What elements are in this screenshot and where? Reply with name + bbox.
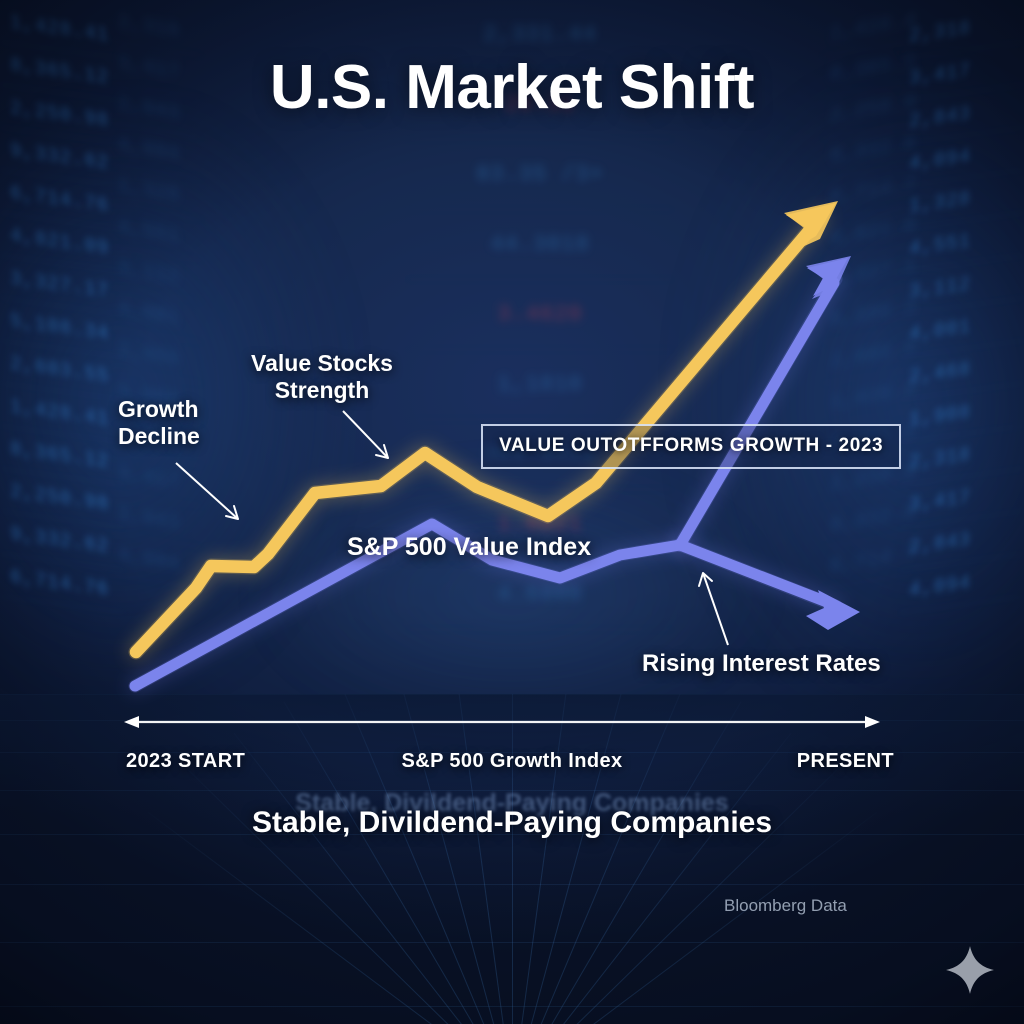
annotation-value-strength-line2: Strength xyxy=(232,377,412,404)
sparkle-icon xyxy=(944,944,996,996)
timeline-axis xyxy=(124,716,880,728)
annotation-rising-interest-rates: Rising Interest Rates xyxy=(642,650,881,678)
data-source-credit: Bloomberg Data xyxy=(724,896,847,916)
series-label-value-index: S&P 500 Value Index xyxy=(347,533,591,562)
growth-decline-leader xyxy=(176,463,238,519)
infographic-canvas: 1,428.418,365.122,250.989,332.626,714.76… xyxy=(0,0,1024,1024)
page-title: U.S. Market Shift xyxy=(0,52,1024,123)
growth-index-line xyxy=(135,256,860,686)
market-shift-chart xyxy=(0,0,1024,1024)
value-strength-leader xyxy=(343,411,388,458)
axis-right-arrowhead xyxy=(865,716,880,728)
annotation-value-stocks-strength: Value Stocks Strength xyxy=(232,350,412,404)
annotation-growth-decline-line2: Decline xyxy=(118,423,268,450)
bottom-caption: Stable, Divildend-Paying Companies xyxy=(0,806,1024,840)
annotation-value-strength-line1: Value Stocks xyxy=(232,350,412,377)
axis-left-arrowhead xyxy=(124,716,139,728)
status-badge: VALUE OUTOTFFORMS GROWTH - 2023 xyxy=(481,424,901,469)
rising-rates-leader xyxy=(703,573,728,645)
axis-label-present: PRESENT xyxy=(797,750,894,773)
